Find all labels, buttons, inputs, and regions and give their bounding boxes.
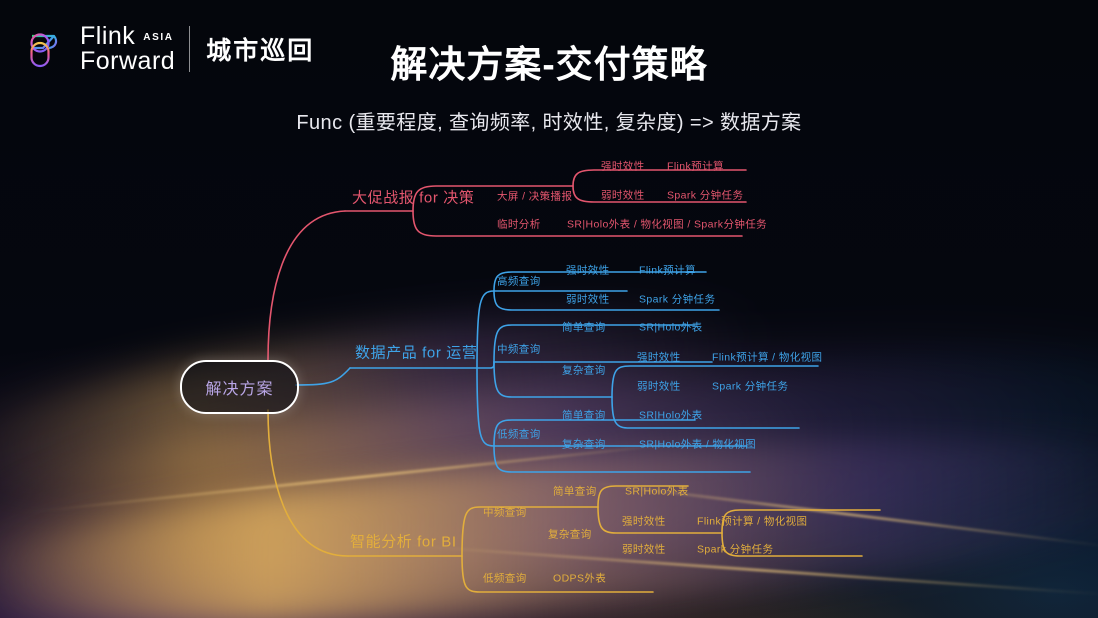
node-simple-query-gold[interactable]: 简单查询 (553, 484, 597, 499)
node-weak-timeliness-red[interactable]: 弱时效性 (601, 188, 645, 203)
node-mid-frequency-query-gold[interactable]: 中频查询 (483, 505, 527, 520)
value-flink-precompute-red[interactable]: Flink预计算 (667, 159, 724, 174)
mindmap-root-label: 解决方案 (205, 375, 273, 399)
value-srholo-blue-mf[interactable]: SR|Holo外表 (639, 320, 703, 335)
node-low-frequency-query-gold[interactable]: 低频查询 (483, 571, 527, 586)
slide-root: Flink ASIA Forward 城市巡回 解决方案-交付策略 Func (… (0, 0, 1098, 618)
branch-label-decision[interactable]: 大促战报 for 决策 (352, 187, 474, 208)
node-strong-timeliness-red[interactable]: 强时效性 (601, 159, 645, 174)
value-flink-mv-blue-mf[interactable]: Flink预计算 / 物化视图 (712, 350, 822, 365)
node-simple-query-blue-lf[interactable]: 简单查询 (562, 408, 606, 423)
value-odps-gold[interactable]: ODPS外表 (553, 571, 606, 586)
node-complex-query-gold[interactable]: 复杂查询 (548, 527, 592, 542)
value-spark-minute-gold[interactable]: Spark 分钟任务 (697, 542, 773, 557)
node-complex-query-blue-lf[interactable]: 复杂查询 (562, 437, 606, 452)
value-flink-precompute-blue-hf[interactable]: Flink预计算 (639, 263, 696, 278)
value-spark-minute-blue-mf[interactable]: Spark 分钟任务 (712, 379, 788, 394)
node-weak-timeliness-blue-mf[interactable]: 弱时效性 (637, 379, 681, 394)
node-strong-timeliness-blue-hf[interactable]: 强时效性 (566, 263, 610, 278)
node-simple-query-blue-mf[interactable]: 简单查询 (562, 320, 606, 335)
node-bigscreen-broadcast[interactable]: 大屏 / 决策播报 (497, 189, 572, 204)
value-srholo-mv-blue-lf[interactable]: SR|Holo外表 / 物化视图 (639, 437, 756, 452)
node-adhoc-analysis[interactable]: 临时分析 (497, 217, 541, 232)
node-weak-timeliness-gold[interactable]: 弱时效性 (622, 542, 666, 557)
value-flink-mv-gold[interactable]: Flink预计算 / 物化视图 (697, 514, 807, 529)
mindmap-root-node[interactable]: 解决方案 (180, 360, 299, 414)
value-srholo-blue-lf[interactable]: SR|Holo外表 (639, 408, 703, 423)
mindmap-connectors (0, 0, 1098, 618)
node-weak-timeliness-blue-hf[interactable]: 弱时效性 (566, 292, 610, 307)
branch-label-bi[interactable]: 智能分析 for BI (350, 531, 457, 552)
value-adhoc-analysis[interactable]: SR|Holo外表 / 物化视图 / Spark分钟任务 (567, 217, 767, 232)
mindmap: 解决方案 大促战报 for 决策 大屏 / 决策播报 强时效性 Flink预计算… (0, 0, 1098, 618)
node-complex-query-blue-mf[interactable]: 复杂查询 (562, 363, 606, 378)
branch-label-operation[interactable]: 数据产品 for 运营 (355, 342, 477, 363)
value-spark-minute-red[interactable]: Spark 分钟任务 (667, 188, 743, 203)
node-strong-timeliness-gold[interactable]: 强时效性 (622, 514, 666, 529)
value-srholo-gold[interactable]: SR|Holo外表 (625, 484, 689, 499)
value-spark-minute-blue-hf[interactable]: Spark 分钟任务 (639, 292, 715, 307)
node-low-frequency-query-blue[interactable]: 低频查询 (497, 427, 541, 442)
node-mid-frequency-query-blue[interactable]: 中频查询 (497, 342, 541, 357)
node-strong-timeliness-blue-mf[interactable]: 强时效性 (637, 350, 681, 365)
node-high-frequency-query[interactable]: 高频查询 (497, 274, 541, 289)
